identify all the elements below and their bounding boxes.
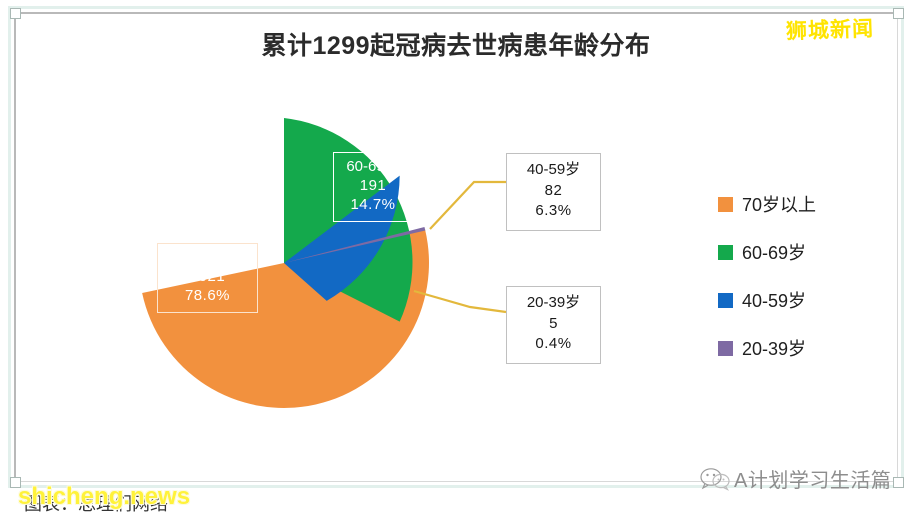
legend-item-70-plus[interactable]: 70岁以上 [718,180,888,228]
datalabel-70-plus-category: 70岁 以上 [165,248,250,267]
legend-swatch-purple [718,341,733,356]
callout-20-39-category: 20-39岁 [515,293,592,314]
wechat-icon [700,467,730,491]
slide-screenshot: 累计1299起冠病去世病患年龄分布 70岁 以上 1021 78.6% 60-6… [0,0,912,521]
page-title: 累计1299起冠病去世病患年龄分布 [0,26,912,62]
legend-label-40-59: 40-59岁 [742,287,806,313]
datalabel-60-69-count: 191 [341,176,405,195]
callout-40-59-percent: 6.3% [515,201,592,222]
datalabel-70-plus-percent: 78.6% [165,286,250,305]
callout-40-59-category: 40-59岁 [515,160,592,181]
callout-40-59-count: 82 [515,181,592,202]
legend-item-40-59[interactable]: 40-59岁 [718,276,888,324]
datalabel-60-69-percent: 14.7% [341,195,405,214]
watermark-bottom-left: shicheng.news [18,483,190,511]
watermark-bottom-right: A计划学习生活篇 [700,464,891,493]
datalabel-60-69: 60-69岁 191 14.7% [333,152,413,222]
legend-item-20-39[interactable]: 20-39岁 [718,324,888,372]
legend-label-70-plus: 70岁以上 [742,191,816,217]
datalabel-70-plus-count: 1021 [165,267,250,286]
callout-20-39: 20-39岁 5 0.4% [506,286,601,364]
datalabel-60-69-category: 60-69岁 [341,157,405,176]
legend-swatch-orange [718,197,733,212]
legend-label-60-69: 60-69岁 [742,239,806,265]
watermark-top-right: 狮城新闻 [786,12,875,45]
chart-legend: 70岁以上 60-69岁 40-59岁 20-39岁 [718,180,888,372]
legend-swatch-blue [718,293,733,308]
watermark-bottom-right-text: A计划学习生活篇 [734,464,891,493]
frame-handle-top-left[interactable] [10,8,21,19]
datalabel-70-plus: 70岁 以上 1021 78.6% [157,243,258,313]
legend-label-20-39: 20-39岁 [742,335,806,361]
legend-swatch-green [718,245,733,260]
callout-20-39-count: 5 [515,314,592,335]
legend-item-60-69[interactable]: 60-69岁 [718,228,888,276]
callout-40-59: 40-59岁 82 6.3% [506,153,601,231]
callout-20-39-percent: 0.4% [515,334,592,355]
frame-handle-top-right[interactable] [893,8,904,19]
frame-handle-bottom-right[interactable] [893,477,904,488]
